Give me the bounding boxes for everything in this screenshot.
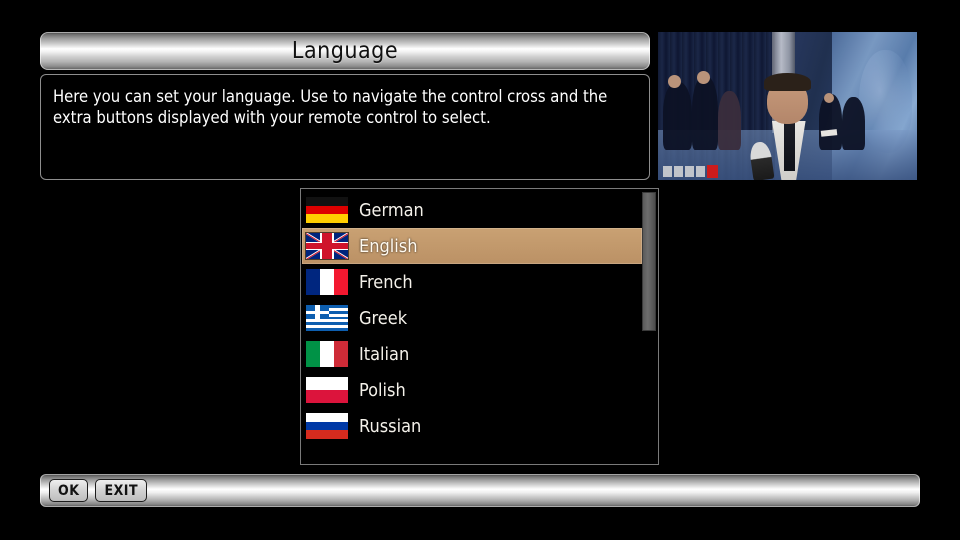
video-crowd-figure [718, 91, 741, 150]
list-item-label: Italian [359, 344, 409, 365]
list-scrollbar-track[interactable] [642, 192, 656, 463]
flag-germany-icon [306, 197, 348, 223]
list-item-english[interactable]: English [302, 228, 642, 264]
page-title: Language [292, 38, 398, 64]
tv-settings-screen: Language Here you can set your language.… [0, 0, 960, 540]
list-scrollbar-thumb[interactable] [642, 192, 656, 331]
flag-poland-icon [306, 377, 348, 403]
video-crowd-figure [692, 76, 718, 150]
description-text: Here you can set your language. Use to n… [53, 86, 637, 128]
video-crowd-head [697, 71, 710, 84]
ok-button[interactable]: OK [49, 479, 88, 502]
list-item-greek[interactable]: Greek [302, 300, 642, 336]
exit-button[interactable]: EXIT [95, 479, 147, 502]
list-item-german[interactable]: German [302, 192, 642, 228]
news-logo-block [696, 166, 705, 177]
news-logo-block [674, 166, 683, 177]
list-item-label: English [359, 236, 417, 257]
flag-united-kingdom-icon [306, 233, 348, 259]
description-panel: Here you can set your language. Use to n… [40, 74, 650, 180]
video-anchor-pocket-square [821, 129, 837, 136]
flag-france-icon [306, 269, 348, 295]
language-list-panel[interactable]: German English [300, 188, 659, 465]
list-item-french[interactable]: French [302, 264, 642, 300]
list-item-russian[interactable]: Russian [302, 408, 642, 444]
list-item-label: Polish [359, 380, 406, 401]
list-item-label: Russian [359, 416, 421, 437]
flag-italy-icon [306, 341, 348, 367]
language-list[interactable]: German English [302, 192, 642, 444]
flag-greece-icon [306, 305, 348, 331]
page-title-bar: Language [40, 32, 650, 70]
video-crowd-figure [663, 82, 691, 150]
flag-russia-icon [306, 413, 348, 439]
list-item-polish[interactable]: Polish [302, 372, 642, 408]
bottom-action-bar: OK EXIT [40, 474, 920, 507]
news-logo [663, 165, 718, 178]
video-crowd-figure [842, 97, 865, 150]
video-crowd-head [824, 93, 834, 103]
list-item-label: French [359, 272, 413, 293]
video-anchor-hair [764, 73, 811, 91]
list-item-label: Greek [359, 308, 407, 329]
news-logo-block [663, 166, 672, 177]
news-logo-block [685, 166, 694, 177]
list-item-italian[interactable]: Italian [302, 336, 642, 372]
list-item-label: German [359, 200, 424, 221]
tv-video-preview[interactable] [658, 32, 917, 180]
news-logo-accent [707, 165, 718, 178]
video-anchor-tie [784, 122, 796, 171]
